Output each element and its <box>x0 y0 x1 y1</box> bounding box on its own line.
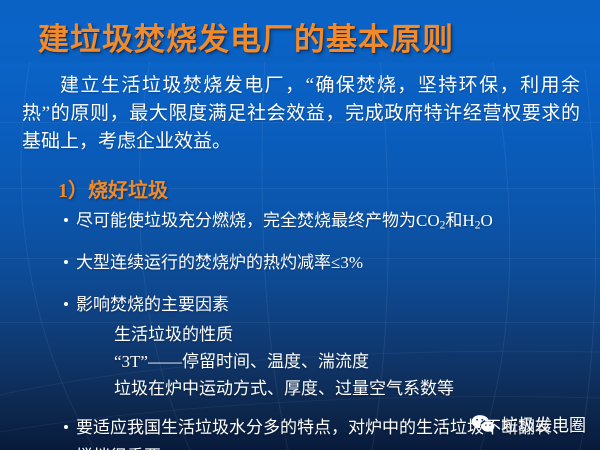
section-heading: 1）烧好垃圾 <box>58 174 168 203</box>
sub-list-item: 生活垃圾的性质 <box>114 321 582 348</box>
bullet-text: 大型连续运行的焚烧炉的热灼减率≤3% <box>76 253 363 272</box>
sub-list-item: “3T”——停留时间、温度、湍流度 <box>114 348 582 375</box>
spacer <box>62 242 582 250</box>
page-title: 建垃圾焚烧发电厂的基本原则 <box>38 14 454 59</box>
wechat-watermark: 垃圾发电圈 <box>471 411 586 436</box>
bullet-text-suffix: O <box>480 211 492 230</box>
bullet-text: 影响焚烧的主要因素 <box>76 295 229 314</box>
intro-paragraph: 建立生活垃圾焚烧发电厂，“确保焚烧，坚持环保，利用余热”的原则，最大限度满足社会… <box>22 72 580 156</box>
sub-list-item: 垃圾在炉中运动方式、厚度、过量空气系数等 <box>114 375 582 402</box>
bullet-text-prefix: 尽可能使垃圾充分燃烧，完全焚烧最终产物为CO <box>76 211 440 230</box>
presentation-slide: 建垃圾焚烧发电厂的基本原则 建立生活垃圾焚烧发电厂，“确保焚烧，坚持环保，利用余… <box>0 0 600 450</box>
bullet-text-continuation: 搅拌很重要 <box>76 444 582 450</box>
watermark-label: 垃圾发电圈 <box>501 411 586 436</box>
list-item: 尽可能使垃圾充分燃烧，完全焚烧最终产物为CO2和H2O <box>62 208 582 238</box>
wechat-icon <box>471 414 495 434</box>
bullet-text-middle: 和H <box>445 211 474 230</box>
list-item: 大型连续运行的焚烧炉的热灼减率≤3% <box>62 250 582 275</box>
spacer <box>62 284 582 292</box>
list-item: 影响焚烧的主要因素 <box>62 292 582 317</box>
